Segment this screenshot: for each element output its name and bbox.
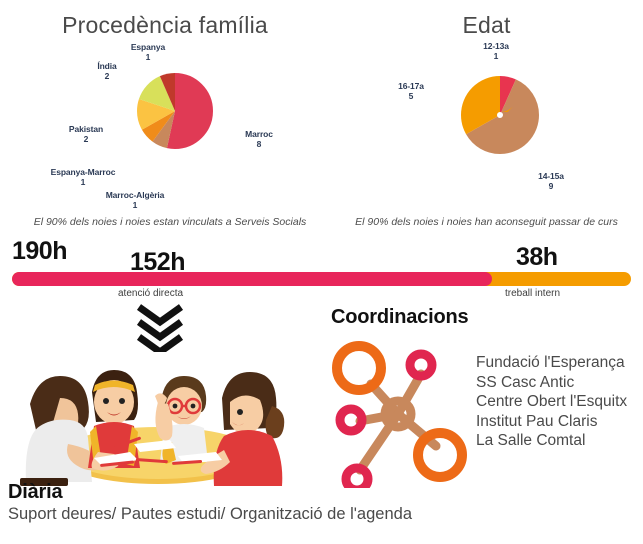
hours-bar-track [12, 272, 631, 286]
slice-label-india-value: 2 [83, 72, 131, 82]
student-right [201, 372, 285, 486]
slice-label-16-17a: 16-17a 5 [389, 82, 433, 101]
diaria-subtitle: Suport deures/ Pautes estudi/ Organitzac… [8, 505, 412, 524]
donut-procedencia-svg [122, 58, 228, 164]
donut-chart-edat [443, 58, 557, 172]
donut-chart-procedencia [122, 58, 228, 164]
slice-label-14-15a-value: 9 [527, 182, 575, 192]
slice-label-pakistan-value: 2 [60, 135, 112, 145]
hours-major-sublabel: atenció directa [118, 288, 183, 299]
slice-label-marroc-algeria: Marroc-Algèria 1 [92, 191, 178, 210]
slice-label-pakistan: Pakistan 2 [60, 125, 112, 144]
slice-label-marroc-algeria-name: Marroc-Algèria [106, 190, 165, 200]
slice-label-marroc-algeria-value: 1 [92, 201, 178, 211]
slice-label-14-15a-name: 14-15a [538, 171, 564, 181]
slice-label-espanya-marroc-value: 1 [39, 178, 127, 188]
slice-label-espanya-name: Espanya [131, 42, 165, 52]
hours-minor-sublabel: treball intern [505, 288, 560, 299]
caption-edat: El 90% dels noies i noies han aconseguit… [330, 216, 643, 228]
hours-total-label: 190h [12, 237, 67, 266]
hours-minor-value: 38h [516, 243, 558, 272]
chart-title-edat: Edat [330, 12, 643, 39]
slice-label-marroc: Marroc 8 [234, 130, 284, 149]
infographic-page: Procedència família Edat Espanya [0, 0, 643, 544]
diaria-title: Diària [8, 481, 62, 504]
slice-label-espanya-marroc-name: Espanya-Marroc [51, 167, 116, 177]
slice-label-14-15a: 14-15a 9 [527, 172, 575, 191]
donut-edat-svg [443, 58, 557, 172]
slice-label-12-13a-name: 12-13a [483, 41, 509, 51]
student-boy-glasses [155, 376, 208, 464]
list-item: Institut Pau Claris [476, 412, 627, 432]
slice-label-pakistan-name: Pakistan [69, 124, 103, 134]
slice-label-espanya: Espanya 1 [117, 43, 179, 62]
slice-label-12-13a-value: 1 [471, 52, 521, 62]
slice-label-india: Índia 2 [83, 62, 131, 81]
network-nodes-icon [326, 336, 476, 493]
hours-bar-fill-atencio-directa [12, 272, 492, 286]
coordinacions-list: Fundació l'Esperança SS Casc Antic Centr… [476, 353, 627, 451]
students-study-group-illustration [8, 340, 308, 495]
slice-label-espanya-value: 1 [117, 53, 179, 63]
list-item: La Salle Comtal [476, 431, 627, 451]
slice-label-12-13a: 12-13a 1 [471, 42, 521, 61]
chart-title-procedencia: Procedència família [0, 12, 330, 39]
slice-label-16-17a-value: 5 [389, 92, 433, 102]
list-item: Centre Obert l'Esquitx [476, 392, 627, 412]
network-nodes-svg [326, 336, 476, 488]
list-item: Fundació l'Esperança [476, 353, 627, 373]
list-item: SS Casc Antic [476, 373, 627, 393]
slice-label-espanya-marroc: Espanya-Marroc 1 [39, 168, 127, 187]
coordinacions-title: Coordinacions [331, 306, 468, 329]
slice-label-marroc-name: Marroc [245, 129, 273, 139]
slice-label-india-name: Índia [97, 61, 116, 71]
slice-label-16-17a-name: 16-17a [398, 81, 424, 91]
caption-procedencia: El 90% dels noies i noies estan vinculat… [0, 216, 340, 228]
slice-label-marroc-value: 8 [234, 140, 284, 150]
students-illustration-svg [8, 340, 308, 490]
